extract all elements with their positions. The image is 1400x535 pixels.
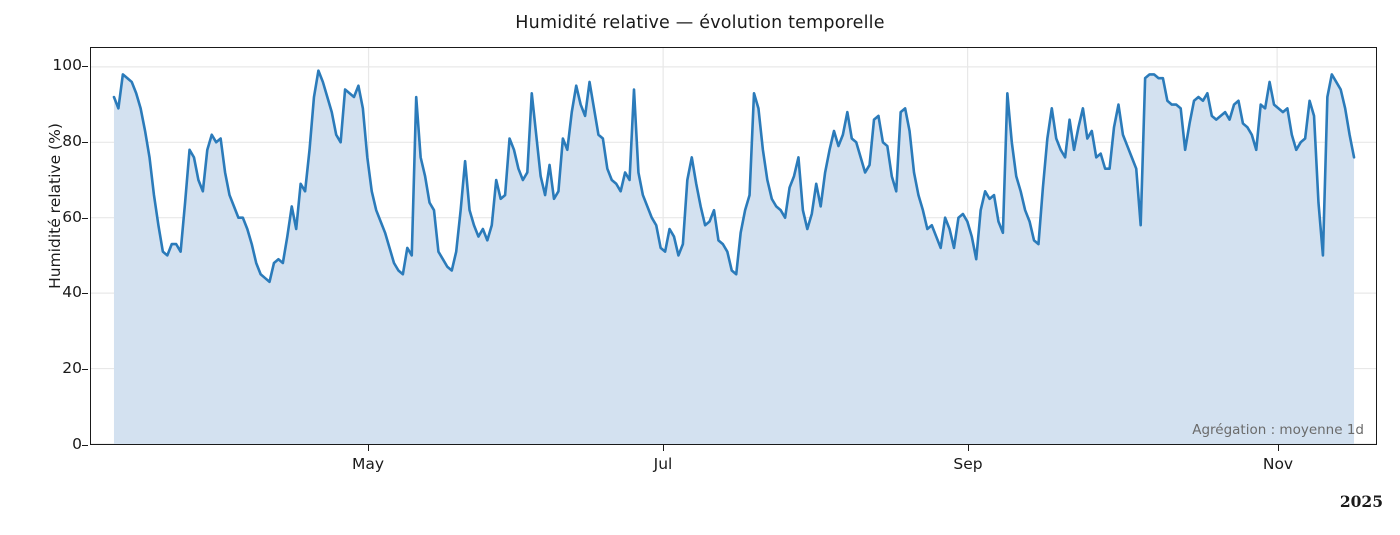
x-tick-mark: [663, 445, 664, 451]
x-tick-label: Sep: [908, 455, 1028, 473]
y-tick-mark: [82, 142, 88, 143]
y-tick-mark: [82, 445, 88, 446]
x-axis-year-label: 2025: [1340, 492, 1383, 511]
chart-figure: Humidité relative — évolution temporelle…: [0, 0, 1400, 535]
x-tick-label: Jul: [603, 455, 723, 473]
aggregation-annotation: Agrégation : moyenne 1d: [1192, 422, 1364, 438]
chart-title: Humidité relative — évolution temporelle: [0, 13, 1400, 33]
humidity-area-series: [91, 48, 1376, 444]
x-tick-mark: [968, 445, 969, 451]
area-fill: [114, 71, 1354, 444]
x-axis-tick-labels: MayJulSepNov: [0, 445, 1400, 485]
x-tick-label: Nov: [1218, 455, 1338, 473]
x-tick-label: May: [308, 455, 428, 473]
y-tick-mark: [82, 66, 88, 67]
plot-area: Agrégation : moyenne 1d: [90, 47, 1377, 445]
y-tick-mark: [82, 293, 88, 294]
y-tick-mark: [82, 369, 88, 370]
x-tick-mark: [368, 445, 369, 451]
x-tick-mark: [1278, 445, 1279, 451]
y-tick-mark: [82, 218, 88, 219]
y-axis-label: Humidité relative (%): [46, 6, 64, 406]
